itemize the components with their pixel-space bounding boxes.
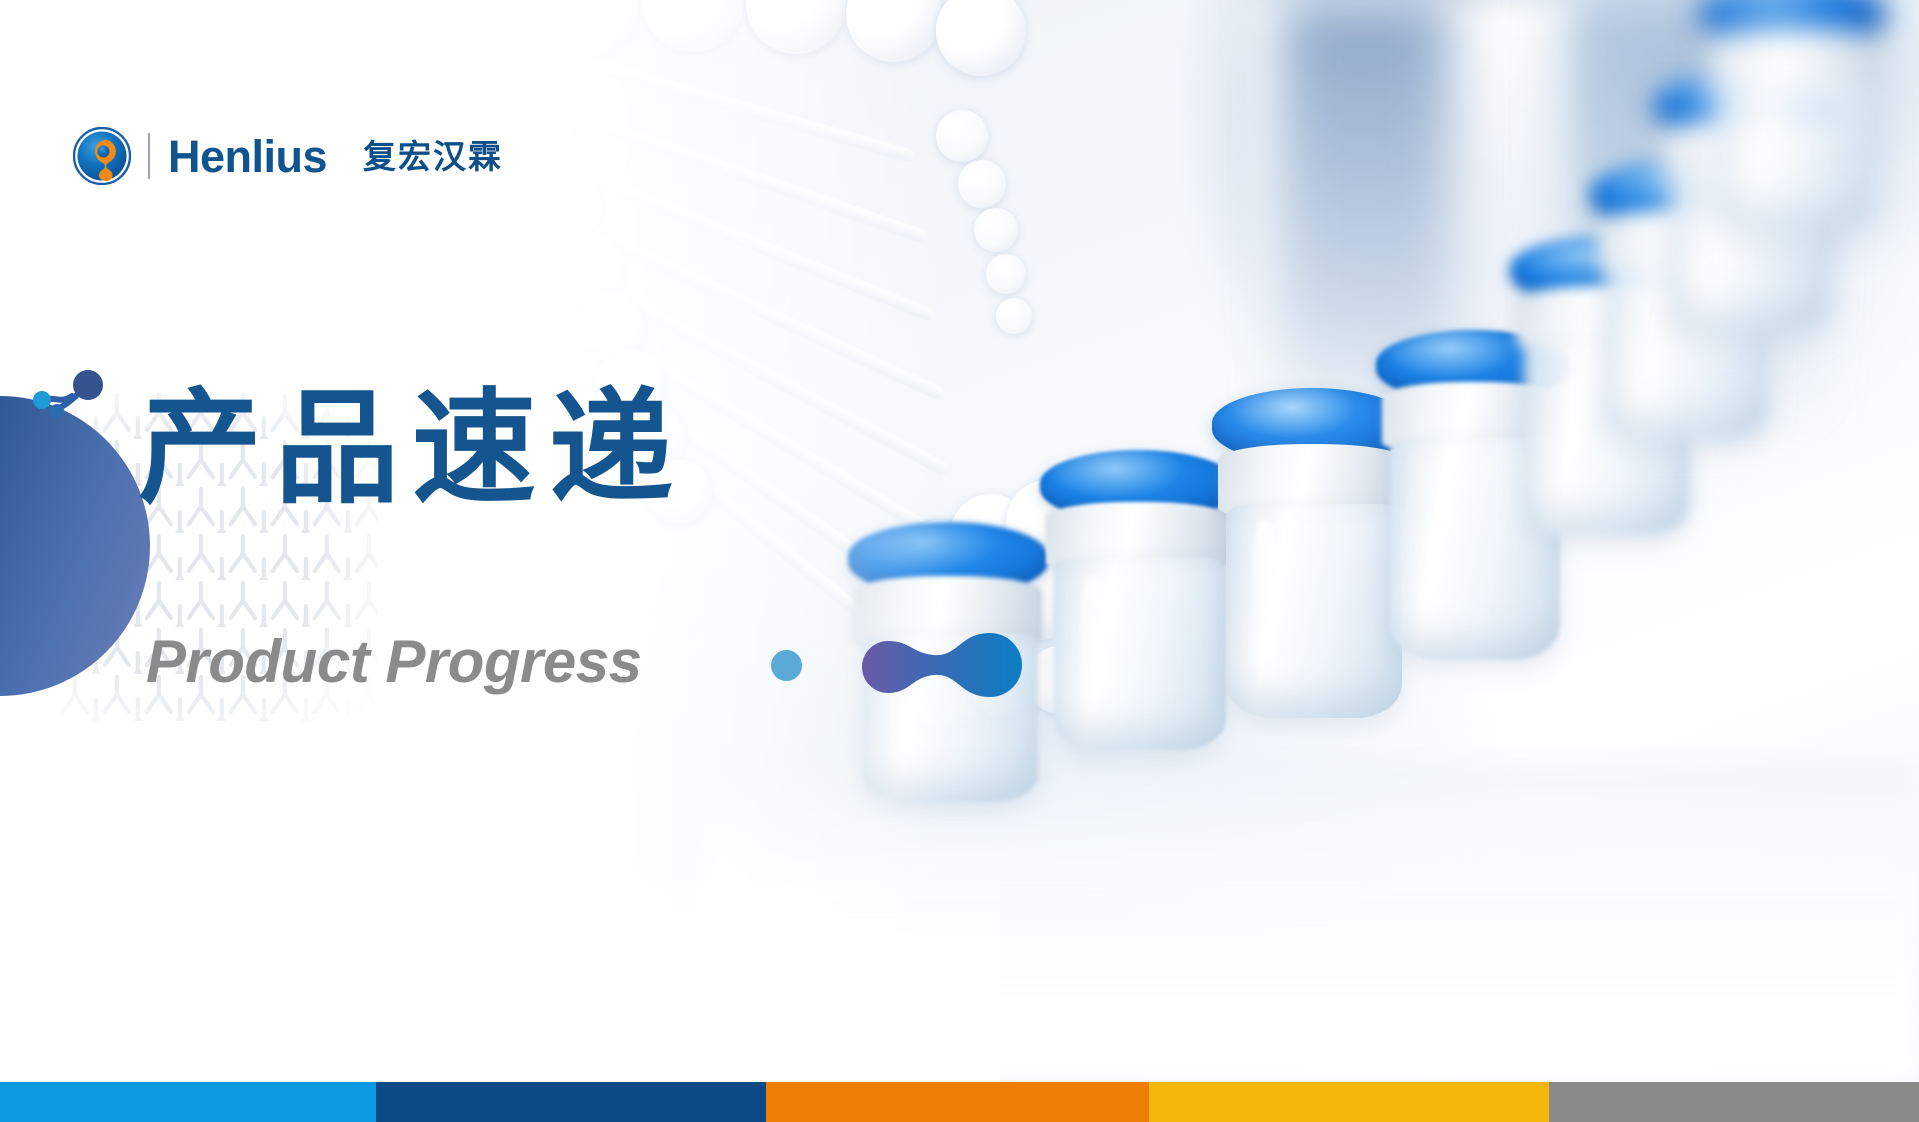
molecule-pair-icon [852, 631, 1034, 705]
segment-orange [766, 1082, 1150, 1122]
mini-molecule-icon [26, 370, 112, 432]
segment-dark-blue [376, 1082, 766, 1122]
accent-dot [771, 650, 802, 681]
bottom-color-bar [0, 1082, 1919, 1122]
brand-logo[interactable]: Henlius 复宏汉霖 [73, 125, 503, 187]
logo-chinese-name: 复宏汉霖 [363, 140, 503, 173]
logo-wordmark: Henlius [168, 134, 327, 179]
segment-gray [1549, 1082, 1919, 1122]
slide-root: Henlius 复宏汉霖 产品速递 Product Progress [0, 0, 1919, 1122]
photo-bottom-fade [0, 840, 1000, 1082]
logo-divider [148, 133, 150, 179]
vial-8 [1700, 0, 1910, 230]
segment-light-blue [0, 1082, 376, 1122]
page-subtitle-english: Product Progress [146, 632, 641, 692]
henlius-logo-mark [73, 127, 131, 185]
page-title-chinese: 产品速递 [138, 378, 686, 521]
segment-amber [1149, 1082, 1548, 1122]
